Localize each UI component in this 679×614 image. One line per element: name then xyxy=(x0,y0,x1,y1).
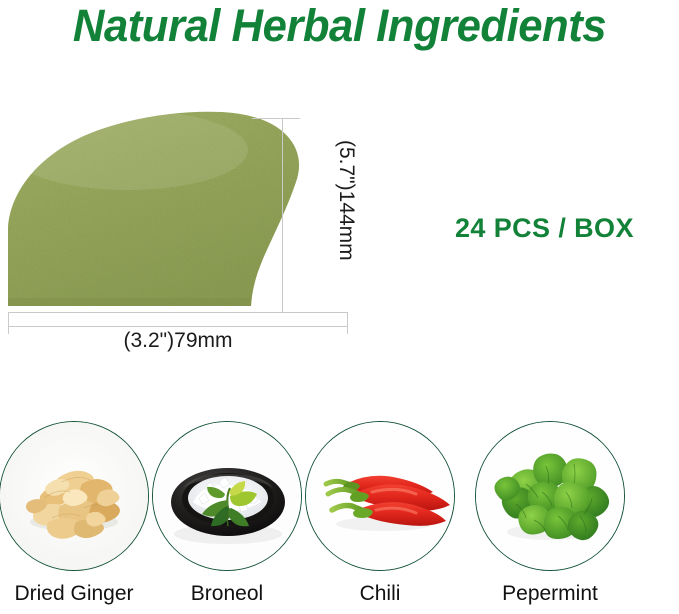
pepermint-circle xyxy=(475,421,625,571)
peppermint-leaves-icon xyxy=(476,422,625,571)
height-dimension-tick-bottom xyxy=(265,312,300,313)
ingredient-item-pepermint: Pepermint xyxy=(470,421,630,606)
ingredient-list: Dried Ginger xyxy=(0,421,679,614)
ingredient-label: Dried Ginger xyxy=(0,582,154,606)
width-dimension-line xyxy=(8,326,348,327)
height-dimension-tick-top xyxy=(265,118,300,119)
ingredient-item-broneol: Broneol xyxy=(147,421,307,606)
product-pad-image xyxy=(8,110,353,310)
dried-ginger-circle xyxy=(0,421,149,571)
width-dimension-label: (3.2")79mm xyxy=(8,329,348,353)
red-chili-peppers-icon xyxy=(306,422,455,571)
ingredient-item-chili: Chili xyxy=(300,421,460,606)
broneol-crystals-icon xyxy=(153,422,302,571)
broneol-circle xyxy=(152,421,302,571)
height-dimension-line xyxy=(282,118,283,312)
chili-circle xyxy=(305,421,455,571)
ingredient-label: Pepermint xyxy=(470,582,630,606)
dried-ginger-icon xyxy=(0,422,149,571)
ingredient-item-dried-ginger: Dried Ginger xyxy=(0,421,154,606)
quantity-per-box-label: 24 PCS / BOX xyxy=(455,213,634,244)
height-dimension-label: (5.7")144mm xyxy=(334,140,358,261)
ingredient-label: Chili xyxy=(300,582,460,606)
ingredient-label: Broneol xyxy=(147,582,307,606)
page-title: Natural Herbal Ingredients xyxy=(10,0,669,53)
